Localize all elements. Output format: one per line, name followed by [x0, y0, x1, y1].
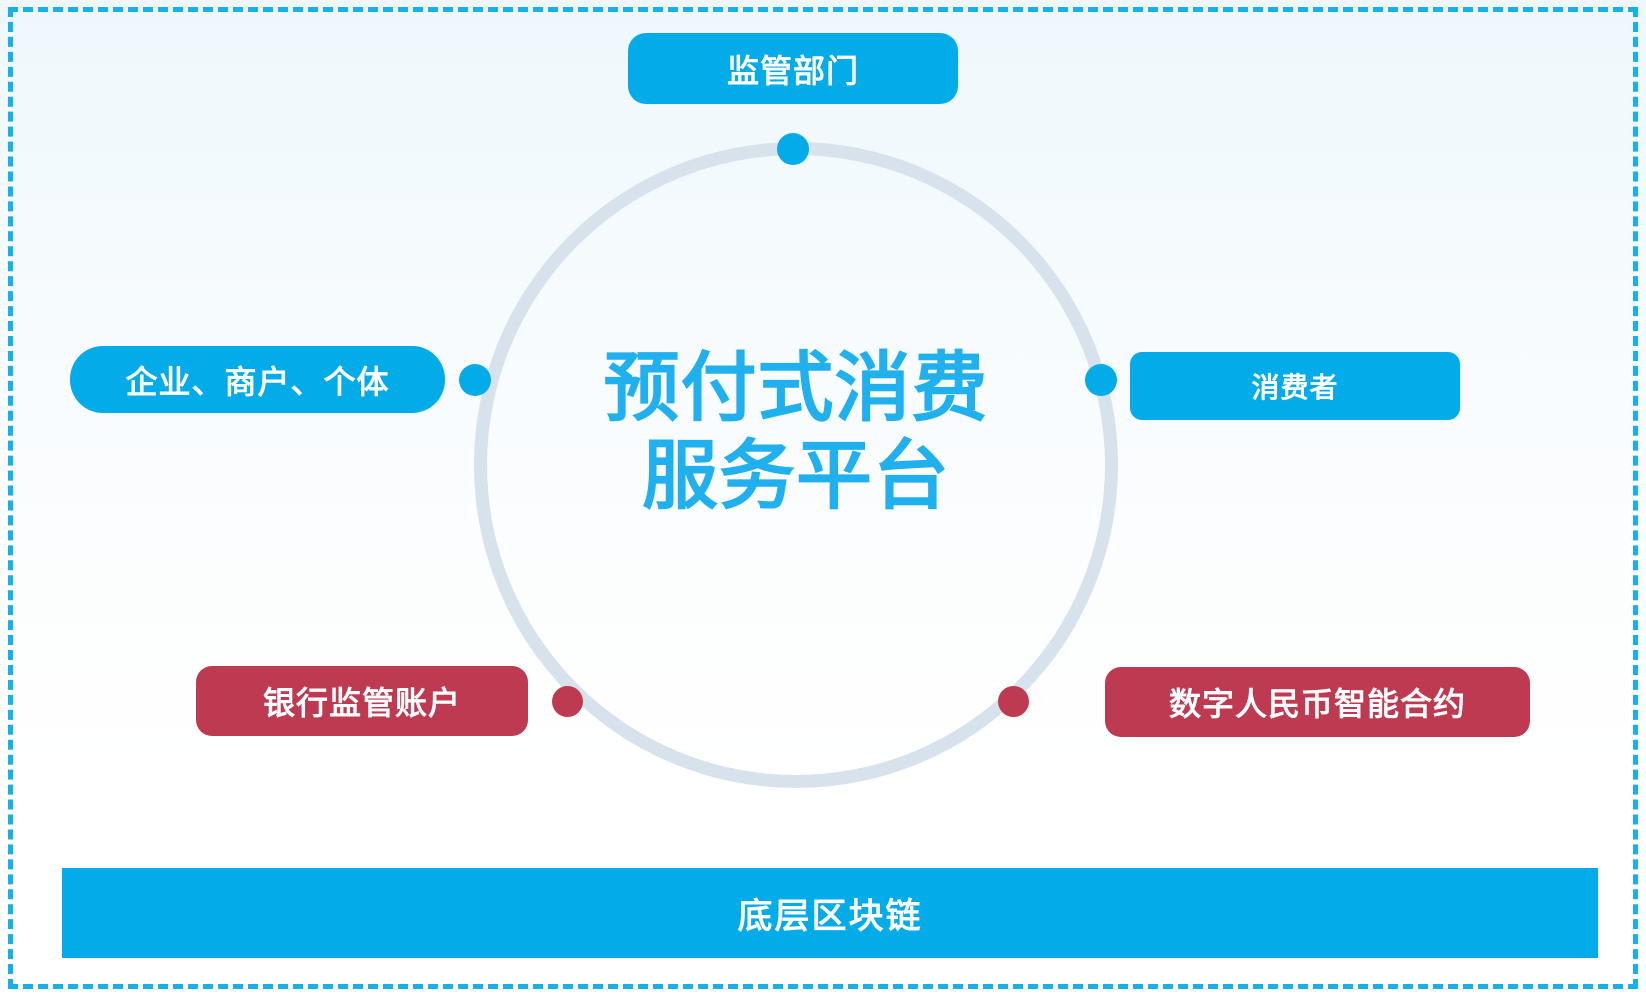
connector-dot-top	[777, 133, 809, 165]
connector-dot-left	[459, 364, 491, 396]
node-label-regulatory-department[interactable]: 监管部门	[628, 33, 958, 104]
connector-dot-right	[1085, 364, 1117, 396]
connector-dot-bottom-left	[552, 686, 583, 717]
node-label-consumers[interactable]: 消费者	[1130, 352, 1460, 420]
node-label-digital-rmb-smart-contract[interactable]: 数字人民币智能合约	[1105, 667, 1530, 737]
foundation-bar[interactable]: 底层区块链	[62, 868, 1598, 958]
page-title: 预付式消费 服务平台	[556, 345, 1036, 521]
node-label-bank-supervisory-account[interactable]: 银行监管账户	[196, 666, 528, 736]
connector-dot-bottom-right	[998, 686, 1029, 717]
diagram-canvas: 预付式消费 服务平台 监管部门 企业、商户、个体 消费者 银行监管账户 数字人民…	[0, 0, 1646, 1000]
node-label-enterprises-merchants-individuals[interactable]: 企业、商户、个体	[70, 346, 445, 413]
